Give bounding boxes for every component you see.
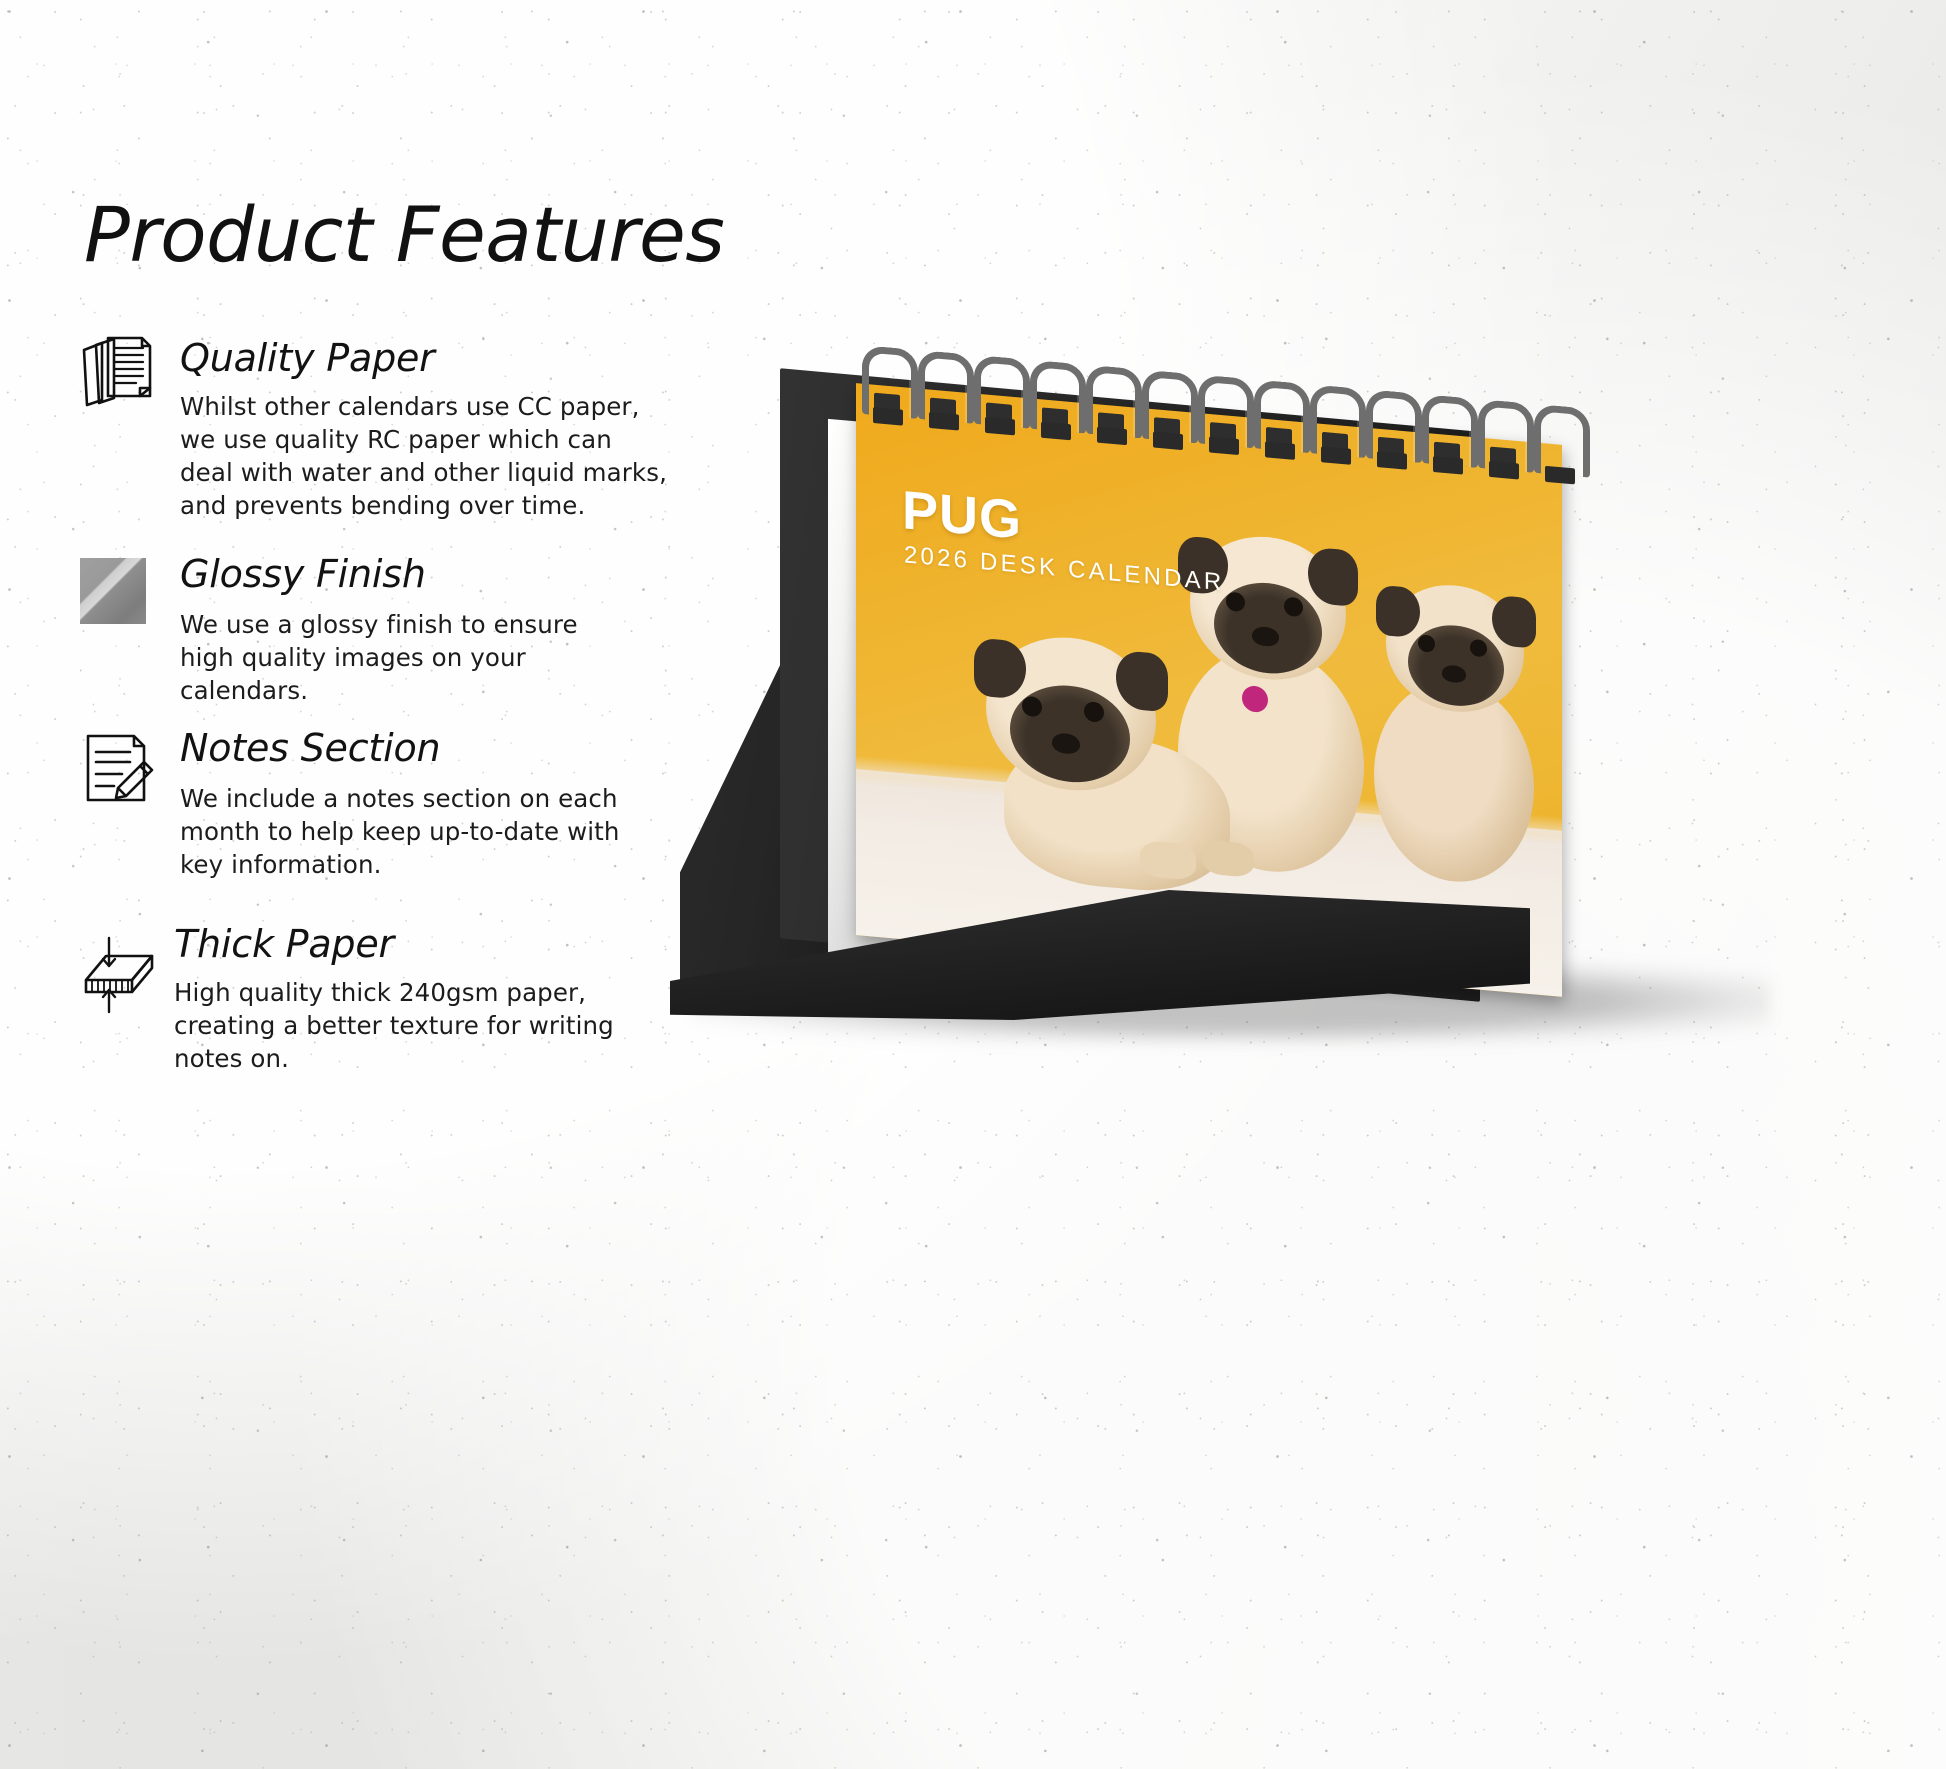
pug-puppy-right — [1356, 577, 1546, 894]
feature-heading: Notes Section — [180, 728, 716, 769]
feature-body: We include a notes section on each month… — [180, 783, 670, 881]
feature-body: Whilst other calendars use CC paper, we … — [180, 391, 672, 522]
feature-heading: Thick Paper — [174, 924, 716, 965]
stacked-documents-icon — [76, 326, 162, 412]
feature-item-glossy-finish: Glossy Finish We use a glossy finish to … — [76, 548, 716, 708]
feature-body: We use a glossy finish to ensure high qu… — [180, 609, 632, 707]
feature-item-quality-paper: Quality Paper Whilst other calendars use… — [76, 326, 716, 522]
glossy-swatch-icon — [76, 554, 162, 640]
feature-heading: Glossy Finish — [180, 554, 716, 595]
product-mockup-desk-calendar: PUG 2026 DESK CALENDAR — [660, 330, 1840, 1130]
calendar-cover-title: PUG — [902, 483, 1022, 548]
notepad-pencil-icon — [76, 726, 162, 812]
paper-thickness-icon — [76, 932, 162, 1018]
feature-body: High quality thick 240gsm paper, creatin… — [174, 977, 614, 1075]
feature-heading: Quality Paper — [180, 338, 716, 379]
page-title: Product Features — [84, 197, 724, 273]
pug-puppy-left — [964, 629, 1232, 902]
feature-item-notes-section: Notes Section We include a notes section… — [76, 718, 716, 882]
feature-item-thick-paper: Thick Paper High quality thick 240gsm pa… — [76, 920, 716, 1076]
features-column: Product Features Quality Paper Whilst o — [0, 0, 760, 1769]
